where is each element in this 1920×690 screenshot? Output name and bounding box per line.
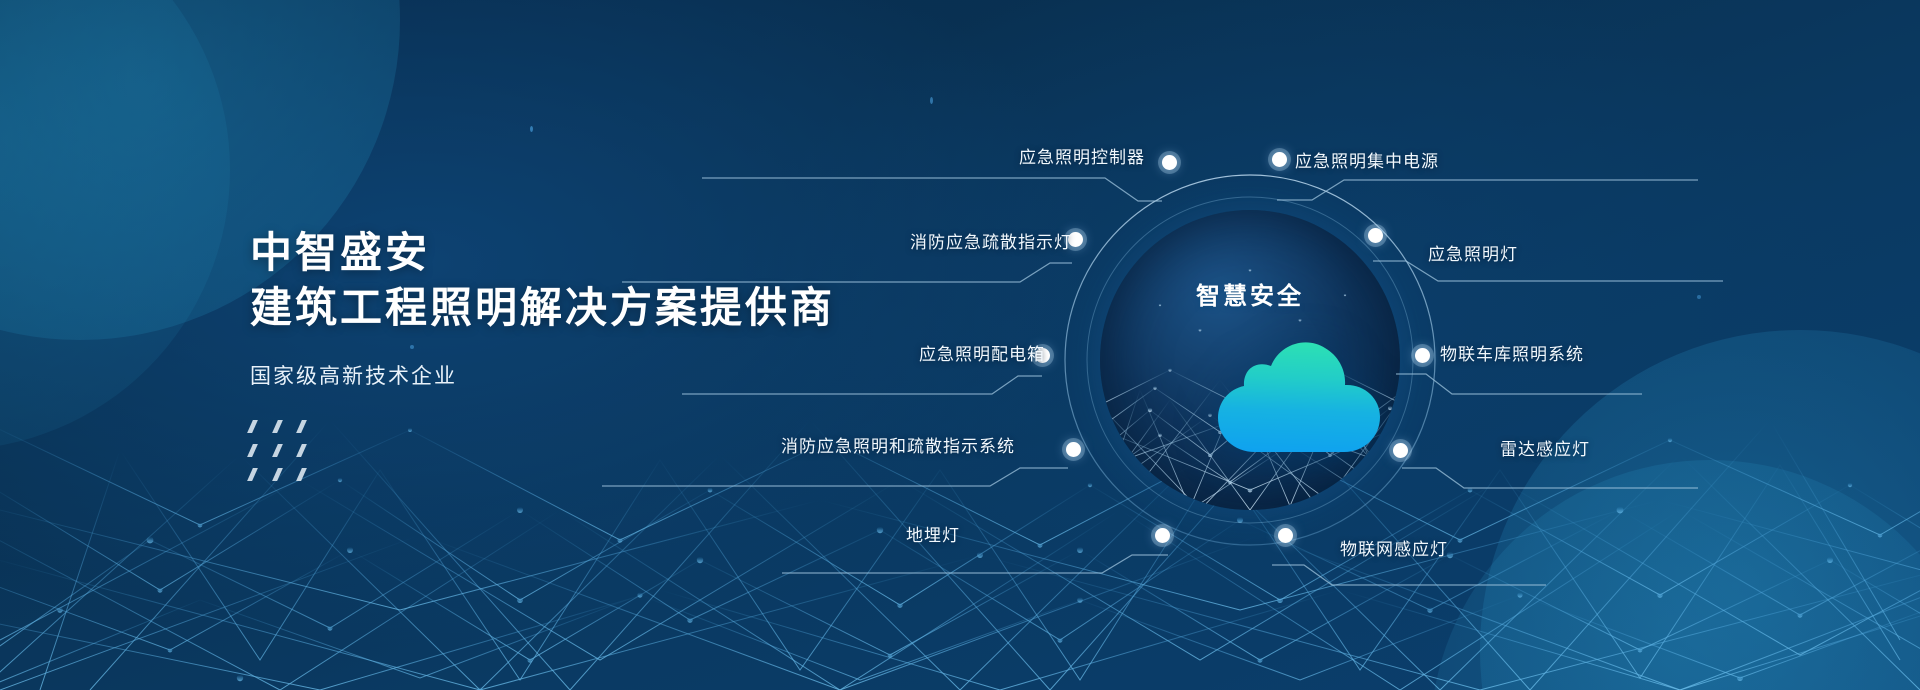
- slash-mark: [296, 468, 306, 481]
- slash-mark: [247, 444, 257, 457]
- slash-mark: [272, 468, 282, 481]
- connector-node-iot-sensor-lamp[interactable]: [1278, 528, 1293, 543]
- leader-line-iot-sensor-lamp: [1268, 560, 1598, 594]
- smart-safety-diagram: 智慧安全: [1050, 160, 1450, 560]
- sparkle: [1697, 295, 1701, 299]
- connector-node-buried-ground-lamp[interactable]: [1155, 528, 1170, 543]
- callout-label: 应急照明控制器: [700, 143, 1145, 175]
- hero-banner: 中智盛安 建筑工程照明解决方案提供商 国家级高新技术企业: [0, 0, 1920, 690]
- leader-line-radar-sensor-lamp: [1398, 462, 1728, 496]
- sparkle: [530, 126, 533, 132]
- globe-sphere: 智慧安全: [1100, 210, 1400, 510]
- decorative-slash-grid: [250, 420, 304, 481]
- leader-line-emergency-lighting-central-power: [1272, 172, 1702, 206]
- connector-node-radar-sensor-lamp[interactable]: [1393, 443, 1408, 458]
- leader-line-iot-garage-lighting-system: [1392, 368, 1722, 402]
- slash-mark: [296, 420, 306, 433]
- sparkle: [930, 97, 933, 104]
- connector-node-emergency-lighting-lamp[interactable]: [1368, 228, 1383, 243]
- decorative-circle-top-left-inner: [0, 0, 230, 450]
- leader-line-emergency-lighting-controller: [700, 172, 1165, 206]
- slash-mark: [247, 468, 257, 481]
- leader-line-emergency-lighting-distribution-box: [680, 368, 1045, 402]
- connector-node-emergency-lighting-controller[interactable]: [1162, 155, 1177, 170]
- cloud-icon: [1208, 332, 1398, 464]
- leader-line-emergency-lighting-lamp: [1368, 255, 1728, 289]
- slash-mark: [272, 420, 282, 433]
- slash-mark: [296, 444, 306, 457]
- connector-node-iot-garage-lighting-system[interactable]: [1415, 348, 1430, 363]
- connector-node-fire-emergency-lighting-and-evacuation-system[interactable]: [1066, 442, 1081, 457]
- callout-emergency-lighting-controller[interactable]: 应急照明控制器: [700, 143, 1145, 175]
- leader-line-fire-emergency-lighting-and-evacuation-system: [600, 460, 1072, 494]
- slash-mark: [247, 420, 257, 433]
- leader-line-fire-emergency-evacuation-indicator-lamp: [620, 256, 1075, 290]
- connector-node-emergency-lighting-central-power[interactable]: [1272, 152, 1287, 167]
- slash-mark: [272, 444, 282, 457]
- center-label: 智慧安全: [1100, 276, 1400, 311]
- leader-line-buried-ground-lamp: [780, 548, 1172, 582]
